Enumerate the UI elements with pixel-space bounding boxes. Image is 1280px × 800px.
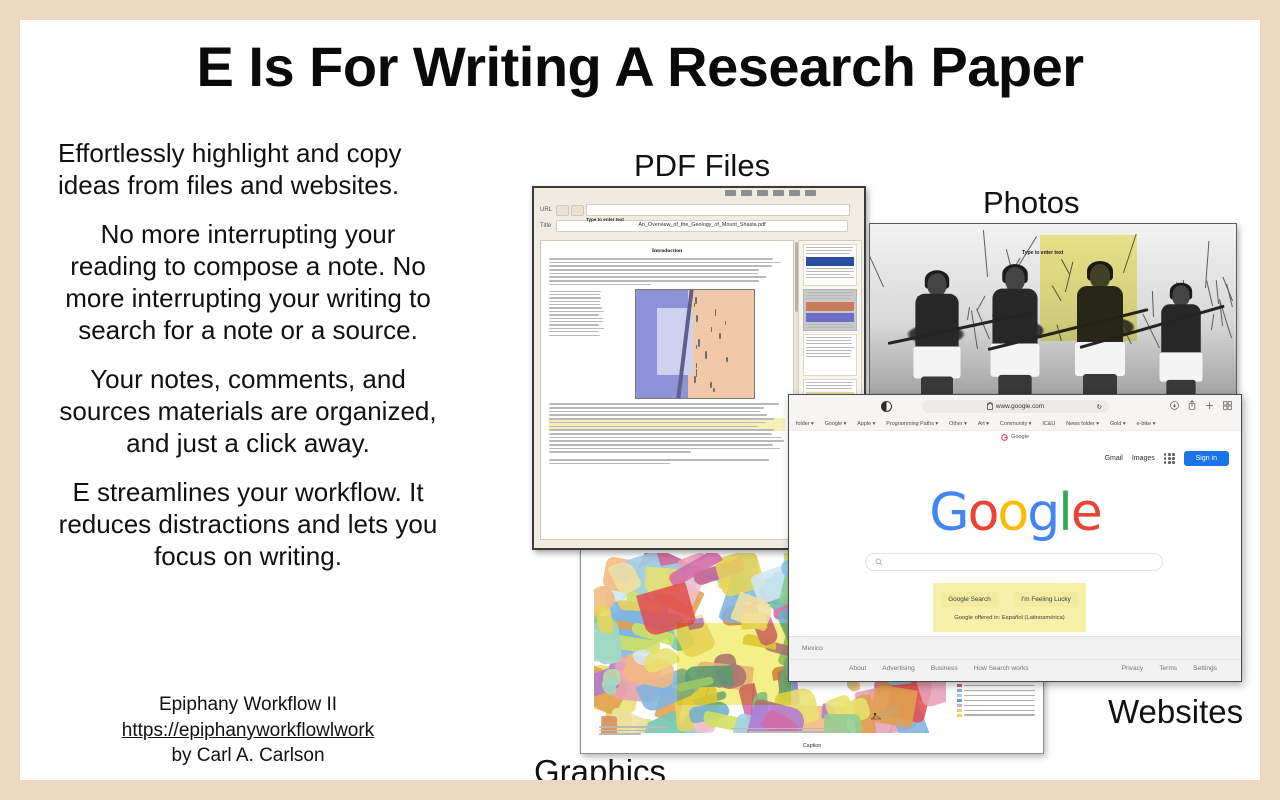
footer-link[interactable]: About [849, 665, 866, 672]
address-bar-value: www.google.com [996, 403, 1044, 410]
bookmark-item[interactable]: Other ▾ [949, 421, 967, 427]
text-line [806, 343, 852, 344]
images-link[interactable]: Images [1132, 455, 1155, 462]
map-marker [715, 309, 716, 316]
text-line [806, 353, 850, 354]
bookmark-item[interactable]: folder ▾ [796, 421, 814, 427]
pdf-figure-caption [549, 291, 605, 338]
product-url-link[interactable]: https://epiphanyworkflowlwork [58, 718, 438, 744]
logo-letter: l [1058, 483, 1070, 543]
google-homepage: Gmail Images Sign in Google Google Searc… [789, 443, 1241, 681]
google-favicon-icon [1001, 434, 1008, 441]
text-line [806, 388, 852, 389]
product-name: Epiphany Workflow II [58, 692, 438, 718]
logo-letter: e [1071, 483, 1101, 543]
legend-label [964, 690, 1035, 692]
slide-canvas: E Is For Writing A Research Paper Effort… [20, 20, 1260, 780]
map-highlight-overlay [677, 623, 791, 705]
text-line [549, 276, 766, 278]
download-icon[interactable] [1170, 401, 1179, 410]
text-line [806, 385, 853, 386]
footer-link[interactable]: Advertising [882, 665, 915, 672]
forward-nav-button[interactable] [571, 205, 584, 216]
section-label-websites: Websites [1108, 693, 1243, 731]
browser-toolbar[interactable]: www.google.com ↻ [789, 395, 1241, 419]
text-line [806, 382, 853, 383]
text-line [806, 295, 853, 296]
background-brush [977, 296, 986, 310]
author-name: by Carl A. Carlson [58, 743, 438, 769]
google-button-row[interactable]: Google Search I'm Feeling Lucky [933, 592, 1086, 607]
pdf-document-heading: Introduction [549, 248, 785, 254]
address-bar[interactable]: www.google.com ↻ [922, 400, 1109, 413]
map-marker [696, 315, 697, 322]
text-line [549, 440, 784, 442]
legend-row [957, 704, 1035, 707]
text-line [549, 262, 781, 264]
text-line [549, 294, 600, 295]
text-line [549, 451, 691, 453]
text-line [549, 280, 759, 282]
map-marker [726, 357, 727, 362]
text-line [549, 258, 773, 260]
legend-swatch [957, 704, 962, 707]
thumbnail-figure [806, 257, 854, 266]
text-line [549, 304, 600, 305]
background-brush [1152, 291, 1154, 317]
footer-link[interactable]: Privacy [1122, 665, 1144, 672]
legend-label [964, 714, 1035, 716]
section-label-graphics: Graphics [534, 753, 666, 780]
legend-row [957, 709, 1035, 712]
footer-link[interactable]: Terms [1159, 665, 1177, 672]
legend-label [964, 685, 1035, 687]
text-line [549, 321, 603, 322]
text-line [806, 247, 853, 248]
text-line [806, 274, 850, 275]
pdf-toolbar-icons[interactable] [725, 190, 816, 196]
text-line [806, 324, 851, 325]
google-buttons-highlighted: Google Search I'm Feeling Lucky Google o… [933, 583, 1086, 632]
legend-row [957, 699, 1035, 702]
text-line [549, 284, 651, 286]
pdf-metadata-fields: URL Title An_Overview_of_the_Geology_of_… [534, 200, 864, 238]
background-brush [1143, 314, 1161, 349]
footer-divider [789, 659, 1241, 660]
logo-letter: g [1027, 483, 1058, 543]
map-marker [710, 382, 711, 389]
logo-letter: o [997, 483, 1027, 543]
google-logo: Google [789, 483, 1241, 543]
lock-icon [987, 403, 993, 410]
bookmarks-bar[interactable]: folder ▾Google ▾Apple ▾Programming Paths… [789, 418, 1241, 431]
browser-tab[interactable]: Google [789, 431, 1241, 443]
tab-overview-icon[interactable] [1223, 401, 1232, 410]
footer-link[interactable]: How Search works [974, 665, 1029, 672]
background-brush [1206, 281, 1213, 306]
bookmark-item[interactable]: Community ▾ [1000, 421, 1031, 427]
legend-swatch [957, 709, 962, 712]
section-label-pdf: PDF Files [634, 148, 770, 184]
paragraph-3: Your notes, comments, and sources materi… [58, 364, 438, 459]
photo-figure [1160, 285, 1203, 403]
footer-link[interactable]: Business [931, 665, 958, 672]
feeling-lucky-button[interactable]: I'm Feeling Lucky [1014, 592, 1078, 607]
legend-label [964, 695, 1035, 697]
text-line [549, 444, 773, 446]
photo-figure [991, 267, 1040, 403]
text-line [549, 297, 601, 298]
map-marker [705, 351, 706, 359]
legend-swatch [957, 689, 962, 692]
text-line [549, 414, 767, 416]
pdf-filename-value: An_Overview_of_the_Geology_of_Mount_Shas… [557, 222, 847, 228]
background-brush [1211, 314, 1215, 330]
text-line [806, 277, 854, 278]
gmail-link[interactable]: Gmail [1105, 455, 1123, 462]
text-line [549, 418, 774, 420]
paragraph-2: No more interrupting your reading to com… [58, 219, 438, 346]
google-footer: Mexico AboutAdvertisingBusinessHow Searc… [789, 636, 1241, 681]
pdf-page-view[interactable]: Introduction [540, 240, 794, 540]
text-line [549, 407, 764, 409]
paragraph-4: E streamlines your workflow. It reduces … [58, 477, 438, 572]
toolbar-icon-4[interactable] [773, 190, 784, 196]
text-line [806, 298, 850, 299]
title-field-label: Title [540, 223, 556, 229]
thumbnail-figure [806, 302, 854, 311]
pdf-page-thumbnail[interactable] [803, 289, 857, 331]
toolbar-icon-1[interactable] [725, 190, 736, 196]
photos-window[interactable]: Type to enter text [869, 223, 1237, 403]
sign-in-button[interactable]: Sign in [1184, 451, 1229, 466]
background-brush [1223, 276, 1234, 300]
text-line [806, 337, 852, 338]
background-brush [983, 230, 988, 276]
text-line [549, 411, 760, 413]
toolbar-icon-2[interactable] [741, 190, 752, 196]
text-line [806, 250, 852, 251]
browser-toolbar-right-icons[interactable] [1170, 400, 1232, 410]
credits-block: Epiphany Workflow II https://epiphanywor… [58, 692, 438, 769]
text-line [549, 459, 769, 461]
map-marker [696, 345, 697, 349]
google-top-nav[interactable]: Gmail Images Sign in [1105, 451, 1229, 466]
text-line [549, 318, 603, 319]
map-marker [696, 369, 697, 377]
footer-country: Mexico [802, 645, 823, 652]
text-line [549, 426, 757, 428]
legend-label [964, 710, 1035, 712]
background-brush [869, 249, 884, 288]
text-line [549, 265, 772, 267]
bird-icon [869, 709, 883, 721]
apps-grid-icon[interactable] [1164, 453, 1175, 464]
url-field-label: URL [540, 207, 556, 213]
text-line [549, 311, 604, 312]
map-caption: Caption [581, 743, 1043, 749]
map-unit [869, 684, 918, 728]
reader-contrast-icon[interactable] [881, 401, 892, 412]
text-line [806, 347, 854, 348]
legend-swatch [957, 694, 962, 697]
map-marker [694, 303, 695, 307]
reload-icon[interactable]: ↻ [1097, 403, 1102, 411]
bookmark-item[interactable]: e-bike ▾ [1137, 421, 1156, 427]
text-line [806, 330, 850, 331]
text-line [549, 331, 599, 332]
paragraph-1: Effortlessly highlight and copy ideas fr… [58, 138, 438, 201]
text-line [549, 307, 602, 308]
map-marker [725, 321, 726, 325]
pdf-highlighted-text [549, 418, 785, 431]
footer-links[interactable]: AboutAdvertisingBusinessHow Search works… [789, 665, 1241, 672]
footer-links-left[interactable]: AboutAdvertisingBusinessHow Search works [849, 665, 1029, 672]
text-line [549, 314, 599, 315]
legend-row [957, 689, 1035, 692]
google-search-button[interactable]: Google Search [941, 592, 998, 607]
body-copy: Effortlessly highlight and copy ideas fr… [58, 138, 438, 591]
legend-swatch [957, 684, 962, 687]
text-line [806, 271, 854, 272]
bookmark-item[interactable]: Google ▾ [825, 421, 847, 427]
map-marker [695, 297, 696, 304]
logo-letter: o [968, 483, 998, 543]
google-offered-in-text: Google offered in: Español (Latinoaméric… [933, 615, 1086, 621]
text-line [549, 463, 670, 465]
pdf-page-thumbnail[interactable] [803, 334, 857, 376]
background-brush [967, 307, 970, 320]
map-marker [694, 376, 695, 384]
back-nav-button[interactable] [556, 205, 569, 216]
new-tab-icon[interactable] [1205, 401, 1214, 410]
text-line [806, 253, 850, 254]
text-line [549, 335, 600, 336]
legend-label [964, 700, 1035, 702]
logo-letter: G [929, 483, 967, 543]
type-to-enter-text-hint: Type to enter text [586, 217, 624, 222]
legend-row [957, 684, 1035, 687]
photo-caption-hint: Type to enter text [1022, 250, 1063, 256]
footer-links-right[interactable]: PrivacyTermsSettings [1122, 665, 1217, 672]
bookmark-item[interactable]: News folder ▾ [1066, 421, 1099, 427]
text-line [549, 433, 772, 435]
section-label-photos: Photos [983, 185, 1080, 221]
pdf-page-thumbnail[interactable] [803, 244, 857, 286]
text-line [806, 356, 851, 357]
bookmark-item[interactable]: IC&U [1042, 421, 1055, 427]
text-line [806, 268, 853, 269]
thumbnail-figure [806, 313, 854, 322]
legend-row [957, 714, 1035, 717]
map-marker [696, 363, 697, 367]
text-line [549, 448, 780, 450]
legend-label [964, 705, 1035, 707]
text-line [806, 292, 853, 293]
text-line [549, 437, 782, 439]
legend-row [957, 694, 1035, 697]
bookmark-item[interactable]: Gold ▾ [1110, 421, 1126, 427]
text-line [549, 301, 600, 302]
text-line [549, 324, 599, 325]
url-field-row[interactable]: URL [540, 204, 850, 216]
map-marker [719, 333, 720, 338]
map-marker [713, 388, 714, 393]
websites-browser-window[interactable]: www.google.com ↻ folder ▾Google ▾Apple ▾… [788, 394, 1242, 682]
text-line [806, 327, 854, 328]
text-line [806, 350, 852, 351]
text-line [549, 269, 759, 271]
text-line [549, 403, 779, 405]
page-title: E Is For Writing A Research Paper [20, 34, 1260, 99]
footer-link[interactable]: Settings [1193, 665, 1217, 672]
url-input[interactable] [586, 204, 850, 216]
text-line [806, 340, 851, 341]
google-search-input[interactable] [865, 553, 1163, 571]
bookmark-item[interactable]: Art ▾ [978, 421, 989, 427]
toolbar-icon-5[interactable] [789, 190, 800, 196]
text-line [549, 328, 604, 329]
background-brush [971, 310, 978, 349]
text-line [549, 273, 758, 275]
search-icon [875, 558, 883, 566]
legend-swatch [957, 699, 962, 702]
text-line [549, 422, 766, 424]
pdf-figure-map [635, 289, 755, 399]
toolbar-icon-6[interactable] [805, 190, 816, 196]
map-marker [698, 339, 699, 347]
bookmark-item[interactable]: Programming Paths ▾ [886, 421, 938, 427]
text-line [549, 291, 601, 292]
share-icon[interactable] [1188, 400, 1196, 410]
map-marker [711, 327, 712, 332]
text-line [549, 429, 774, 431]
toolbar-icon-3[interactable] [757, 190, 768, 196]
browser-tab-title: Google [1011, 434, 1029, 440]
bookmark-item[interactable]: Apple ▾ [857, 421, 875, 427]
legend-swatch [957, 714, 962, 717]
